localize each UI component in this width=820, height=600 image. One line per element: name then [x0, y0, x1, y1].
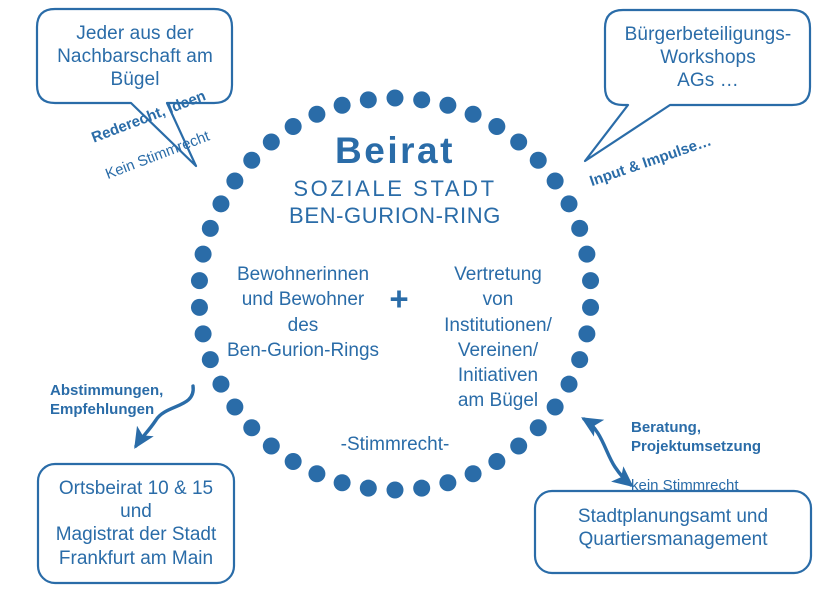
ring-dot: [413, 91, 430, 108]
box-bottom-left-text: Ortsbeirat 10 & 15 und Magistrat der Sta…: [42, 477, 230, 570]
arrow-ring-to-stadtplanungsamt: [584, 419, 631, 485]
ring-dot: [547, 172, 564, 189]
ring-dot: [226, 399, 243, 416]
ring-dot: [191, 299, 208, 316]
ring-dot: [212, 195, 229, 212]
ring-dot: [578, 246, 595, 263]
ring-dot: [530, 419, 547, 436]
center-subheading-1: SOZIALE STADT: [245, 176, 545, 203]
ring-dot: [263, 438, 280, 455]
ring-dot: [308, 106, 325, 123]
ring-dot: [195, 246, 212, 263]
ring-dot: [195, 325, 212, 342]
connector-label-bottom-right-bold: Beratung, Projektumsetzung: [631, 419, 811, 457]
voting-note: -Stimmrecht-: [300, 433, 490, 456]
ring-dot: [413, 480, 430, 497]
ring-dot: [212, 376, 229, 393]
ring-dot: [488, 453, 505, 470]
ring-dot: [202, 351, 219, 368]
ring-dot: [360, 91, 377, 108]
connector-label-bottom-right-light: kein Stimmrecht: [631, 477, 811, 496]
ring-dot: [582, 299, 599, 316]
center-right-group: Vertretung von Institutionen/ Vereinen/ …: [412, 262, 584, 414]
ring-dot: [387, 90, 404, 107]
diagram-canvas: Jeder aus der Nachbarschaft am Bügel Bür…: [0, 0, 820, 600]
ring-dot: [360, 480, 377, 497]
ring-dot: [387, 482, 404, 499]
ring-dot: [465, 465, 482, 482]
ring-dot: [308, 465, 325, 482]
bubble-top-right-text: Bürgerbeteiligungs- Workshops AGs …: [610, 23, 806, 93]
connector-label-bottom-left-bold: Abstimmungen, Empfehlungen: [50, 382, 200, 420]
ring-dot: [202, 220, 219, 237]
ring-dot: [510, 438, 527, 455]
ring-dot: [561, 195, 578, 212]
ring-dot: [439, 474, 456, 491]
ring-dot: [465, 106, 482, 123]
center-heading: Beirat: [245, 128, 545, 173]
ring-dot: [191, 272, 208, 289]
ring-dot: [334, 474, 351, 491]
ring-dot: [439, 97, 456, 114]
ring-dot: [226, 172, 243, 189]
ring-dot: [582, 272, 599, 289]
ring-dot: [334, 97, 351, 114]
plus-icon: +: [386, 282, 412, 315]
center-subheading-2: BEN-GURION-RING: [245, 203, 545, 230]
center-left-group: Bewohnerinnen und Bewohner des Ben-Gurio…: [218, 262, 388, 363]
ring-dot: [243, 419, 260, 436]
ring-dot: [571, 220, 588, 237]
